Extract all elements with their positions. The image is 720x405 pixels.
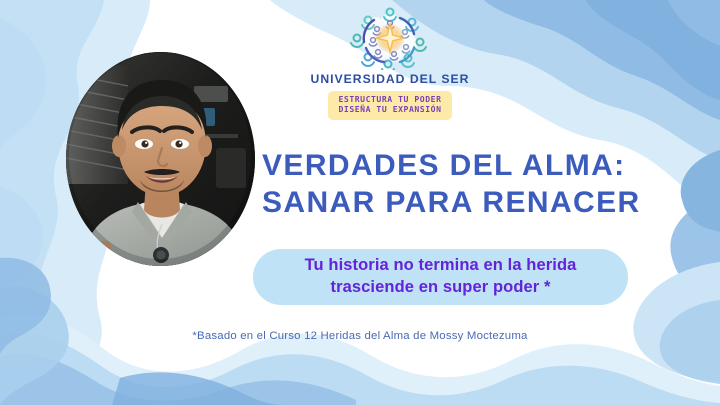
brand-name: UNIVERSIDAD DEL SER — [311, 72, 470, 86]
title-line-2: SANAR PARA RENACER — [262, 185, 686, 222]
speaker-photo-image — [66, 52, 255, 266]
radial-figures-star-logo — [344, 4, 436, 70]
subtitle-line-2: trasciende en super poder * — [330, 277, 550, 299]
brand-block: UNIVERSIDAD DEL SER ESTRUCTURA TU PODER … — [300, 4, 480, 126]
title-line-1: VERDADES DEL ALMA: — [262, 149, 626, 182]
subtitle-banner: Tu historia no termina en la herida tras… — [253, 249, 628, 305]
footnote-text: *Basado en el Curso 12 Heridas del Alma … — [0, 330, 720, 342]
page-title: VERDADES DEL ALMA: SANAR PARA RENACER — [262, 148, 686, 221]
tagline-line-2: DISEÑA TU EXPANSIÓN — [338, 105, 441, 115]
speaker-photo — [66, 52, 255, 266]
subtitle-line-1: Tu historia no termina en la herida — [305, 255, 577, 277]
brand-tagline-badge: ESTRUCTURA TU PODER DISEÑA TU EXPANSIÓN — [328, 91, 451, 120]
poster-canvas: UNIVERSIDAD DEL SER ESTRUCTURA TU PODER … — [0, 0, 720, 405]
